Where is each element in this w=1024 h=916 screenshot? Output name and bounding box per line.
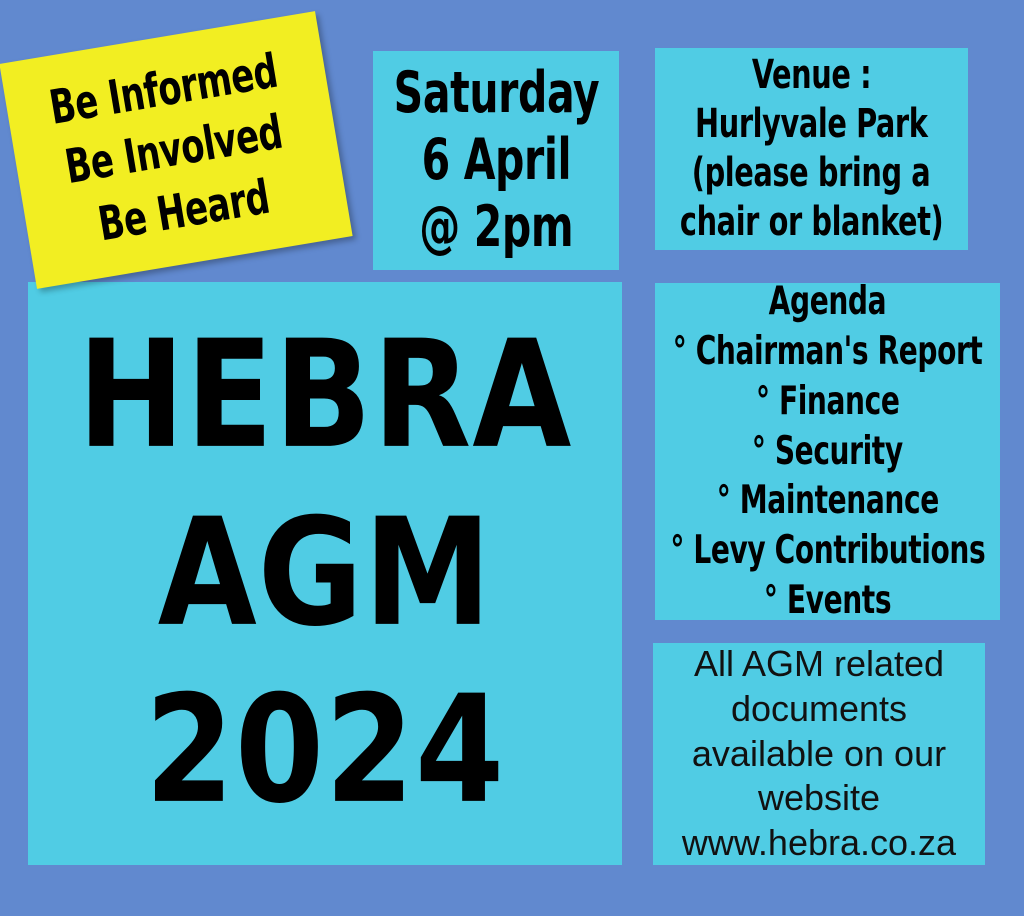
agenda-item-finance: ° Finance bbox=[756, 377, 900, 427]
date-time-panel: Saturday 6 April @ 2pm bbox=[373, 51, 619, 270]
agenda-panel: Agenda ° Chairman's Report ° Finance ° S… bbox=[655, 283, 1000, 620]
website-url: www.hebra.co.za bbox=[682, 821, 956, 866]
venue-panel: Venue : Hurlyvale Park (please bring a c… bbox=[655, 48, 968, 250]
agenda-item-chairmans-report: ° Chairman's Report bbox=[673, 327, 983, 377]
agenda-item-security: ° Security bbox=[752, 427, 903, 477]
date-day: Saturday bbox=[393, 60, 598, 127]
venue-name: Hurlyvale Park bbox=[695, 100, 927, 149]
venue-note-line-1: (please bring a bbox=[692, 149, 930, 198]
poster-canvas: Be Informed Be Involved Be Heard Saturda… bbox=[0, 0, 1024, 916]
venue-label: Venue : bbox=[752, 51, 871, 100]
main-title-panel: HEBRA AGM 2024 bbox=[28, 282, 622, 865]
agenda-item-events: ° Events bbox=[764, 576, 891, 626]
event-year: 2024 bbox=[145, 677, 505, 825]
agenda-item-levy-contributions: ° Levy Contributions bbox=[670, 526, 985, 576]
date-time: @ 2pm bbox=[419, 194, 573, 261]
venue-note-line-2: chair or blanket) bbox=[680, 198, 943, 247]
organisation-name: HEBRA bbox=[78, 322, 573, 470]
agenda-heading: Agenda bbox=[769, 277, 886, 327]
documents-line-4: website bbox=[758, 776, 880, 821]
agenda-item-maintenance: ° Maintenance bbox=[716, 476, 938, 526]
documents-panel: All AGM related documents available on o… bbox=[653, 643, 985, 865]
documents-line-2: documents bbox=[731, 687, 907, 732]
slogan-sticker: Be Informed Be Involved Be Heard bbox=[0, 11, 353, 289]
documents-line-3: available on our bbox=[692, 732, 946, 777]
date-date: 6 April bbox=[421, 127, 570, 194]
documents-line-1: All AGM related bbox=[694, 642, 944, 687]
event-name: AGM bbox=[158, 499, 493, 647]
